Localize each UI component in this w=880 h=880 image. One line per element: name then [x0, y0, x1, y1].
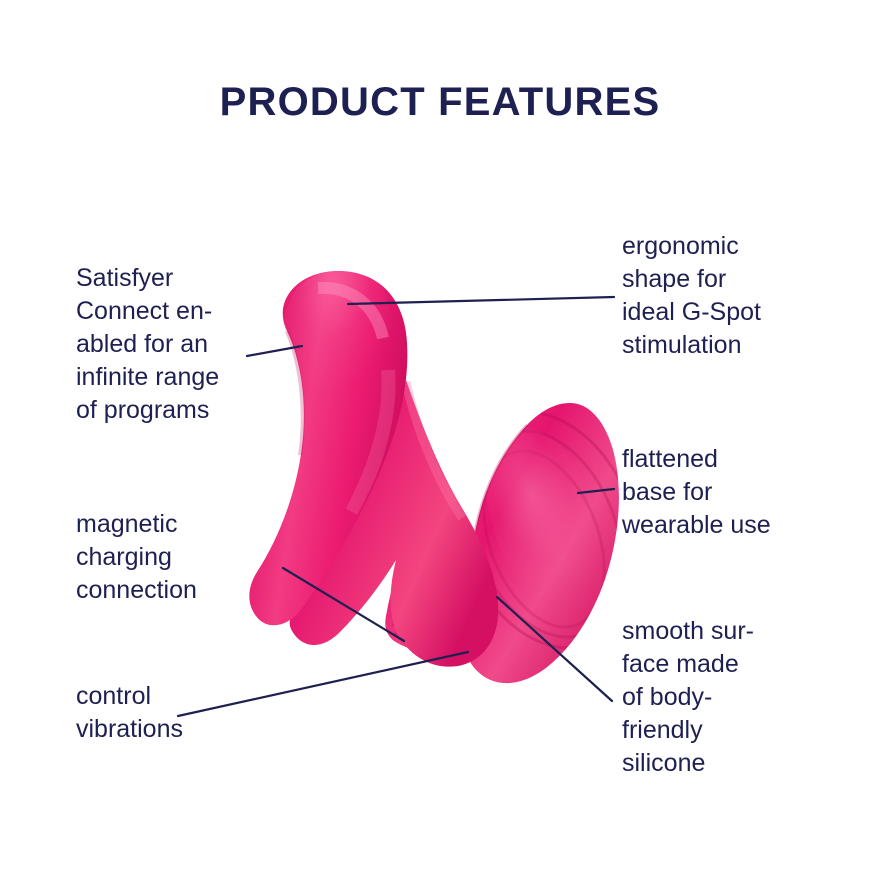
product-features-page: PRODUCT FEATURES	[0, 0, 880, 880]
callout-flattened: flattened base for wearable use	[622, 443, 837, 542]
callout-ergonomic: ergonomic shape for ideal G-Spot stimula…	[622, 230, 837, 362]
callout-connect: Satisfyer Connect en- abled for an infin…	[76, 262, 291, 427]
callout-smooth: smooth sur- face made of body- friendly …	[622, 615, 837, 780]
callout-control: control vibrations	[76, 680, 291, 746]
callout-magnetic: magnetic charging connection	[76, 508, 291, 607]
